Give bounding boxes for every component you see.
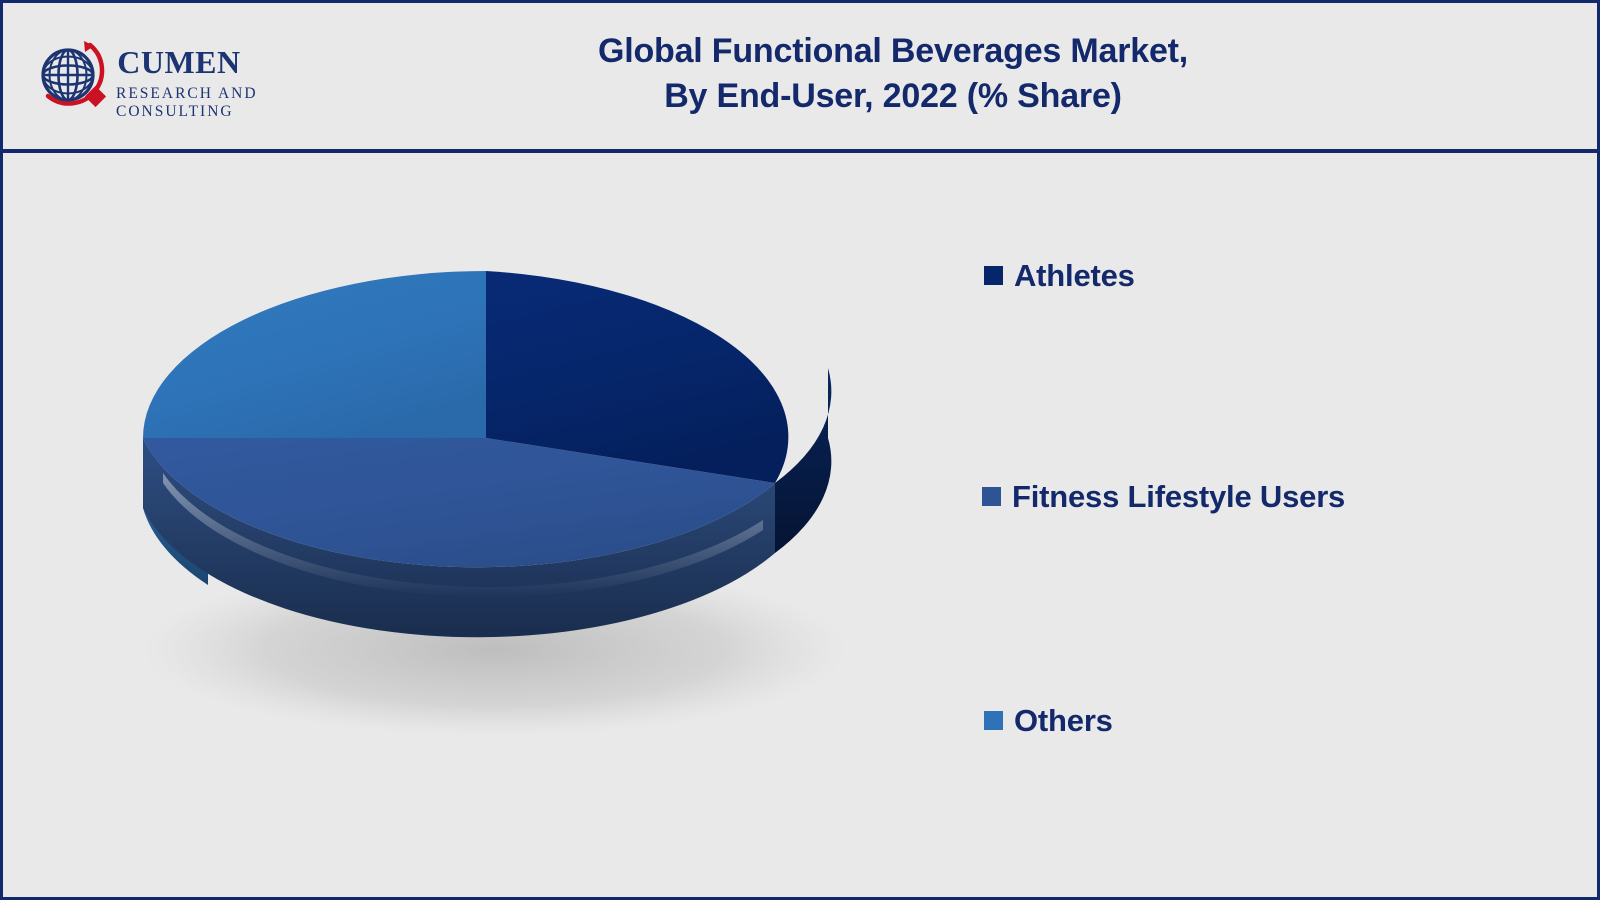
legend-swatch-others-icon bbox=[984, 711, 1003, 730]
chart-title-line-2: By End-User, 2022 (% Share) bbox=[363, 74, 1423, 119]
legend-item-fitness-lifestyle-users[interactable]: Fitness Lifestyle Users bbox=[982, 481, 1345, 512]
legend-item-athletes[interactable]: Athletes bbox=[984, 260, 1135, 291]
globe-logo-icon bbox=[28, 33, 114, 119]
legend-swatch-athletes-icon bbox=[984, 266, 1003, 285]
legend-item-others[interactable]: Others bbox=[984, 705, 1113, 736]
acumen-wordmark: Acumen RESEARCH AND CONSULTING bbox=[116, 35, 356, 121]
chart-title-line-1: Global Functional Beverages Market, bbox=[363, 29, 1423, 74]
pie-chart-svg bbox=[123, 268, 863, 738]
chart-body: Athletes Fitness Lifestyle Users Others … bbox=[3, 153, 1597, 897]
pie-chart bbox=[123, 268, 863, 738]
legend-label-fitness-lifestyle-users: Fitness Lifestyle Users bbox=[1012, 481, 1345, 512]
acumen-logo: Acumen RESEARCH AND CONSULTING bbox=[28, 31, 358, 121]
legend-label-others: Others bbox=[1014, 705, 1113, 736]
chart-page: Acumen RESEARCH AND CONSULTING Global Fu… bbox=[0, 0, 1600, 900]
legend-label-athletes: Athletes bbox=[1014, 260, 1135, 291]
chart-title: Global Functional Beverages Market, By E… bbox=[363, 29, 1423, 119]
brand-tagline: RESEARCH AND CONSULTING bbox=[116, 85, 356, 121]
pie-slice-others[interactable] bbox=[143, 271, 486, 438]
chart-legend: Athletes Fitness Lifestyle Users Others bbox=[978, 243, 1568, 803]
brand-name: Acumen bbox=[116, 35, 356, 81]
header-bar: Acumen RESEARCH AND CONSULTING Global Fu… bbox=[3, 3, 1597, 149]
legend-swatch-fitness-lifestyle-users-icon bbox=[982, 487, 1001, 506]
